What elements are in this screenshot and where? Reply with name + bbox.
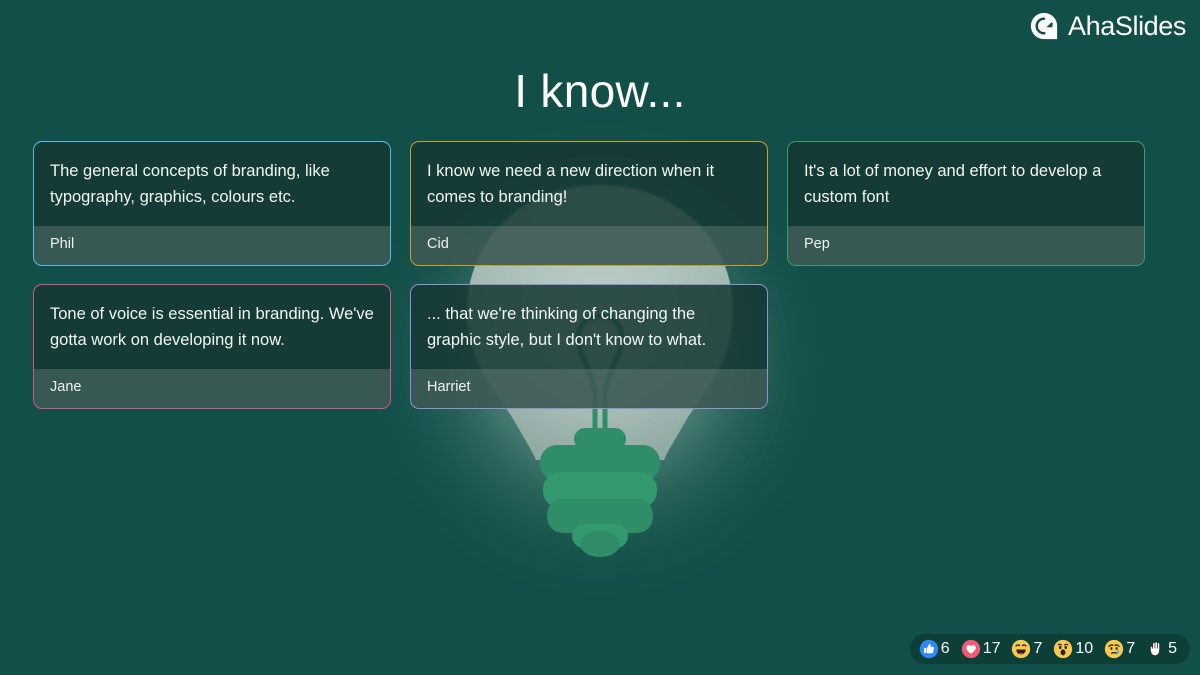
reaction-count: 10 <box>1075 641 1093 657</box>
response-card-author: Pep <box>788 226 1144 264</box>
reaction-count: 6 <box>941 641 950 657</box>
response-card[interactable]: It's a lot of money and effort to develo… <box>787 141 1145 266</box>
response-card[interactable]: Tone of voice is essential in branding. … <box>33 284 391 409</box>
reaction-count: 17 <box>983 641 1001 657</box>
surprised-face-icon <box>1053 639 1073 659</box>
response-card-text: It's a lot of money and effort to develo… <box>788 142 1144 226</box>
response-card-text: Tone of voice is essential in branding. … <box>34 285 390 369</box>
response-card-author: Cid <box>411 226 767 264</box>
page-title: I know... <box>0 66 1200 117</box>
reaction-sad[interactable]: 7 <box>1104 639 1135 659</box>
laughing-face-icon <box>1011 639 1031 659</box>
response-card-author: Jane <box>34 369 390 407</box>
ahaslides-logo: AhaSlides <box>1029 11 1186 41</box>
response-card[interactable]: ... that we're thinking of changing the … <box>410 284 768 409</box>
reaction-laughing[interactable]: 7 <box>1011 639 1042 659</box>
reaction-surprised[interactable]: 10 <box>1053 639 1093 659</box>
raised-hand-icon <box>1146 639 1166 659</box>
response-card-text: ... that we're thinking of changing the … <box>411 285 767 369</box>
response-card[interactable]: I know we need a new direction when it c… <box>410 141 768 266</box>
response-cards-grid: The general concepts of branding, like t… <box>33 141 1167 409</box>
ahaslides-logo-text: AhaSlides <box>1068 13 1186 40</box>
thumbs-up-icon <box>919 639 939 659</box>
reaction-heart[interactable]: 17 <box>961 639 1001 659</box>
reaction-thumbs-up[interactable]: 6 <box>919 639 950 659</box>
response-card[interactable]: The general concepts of branding, like t… <box>33 141 391 266</box>
response-card-author: Phil <box>34 226 390 264</box>
heart-icon <box>961 639 981 659</box>
ahaslides-logo-icon <box>1029 11 1059 41</box>
reaction-count: 5 <box>1168 641 1177 657</box>
reaction-count: 7 <box>1126 641 1135 657</box>
reaction-count: 7 <box>1033 641 1042 657</box>
response-card-text: I know we need a new direction when it c… <box>411 142 767 226</box>
response-card-author: Harriet <box>411 369 767 407</box>
reactions-bar: 6 17 7 <box>910 634 1190 664</box>
reaction-raised-hand[interactable]: 5 <box>1146 639 1177 659</box>
sad-face-icon <box>1104 639 1124 659</box>
response-card-text: The general concepts of branding, like t… <box>34 142 390 226</box>
